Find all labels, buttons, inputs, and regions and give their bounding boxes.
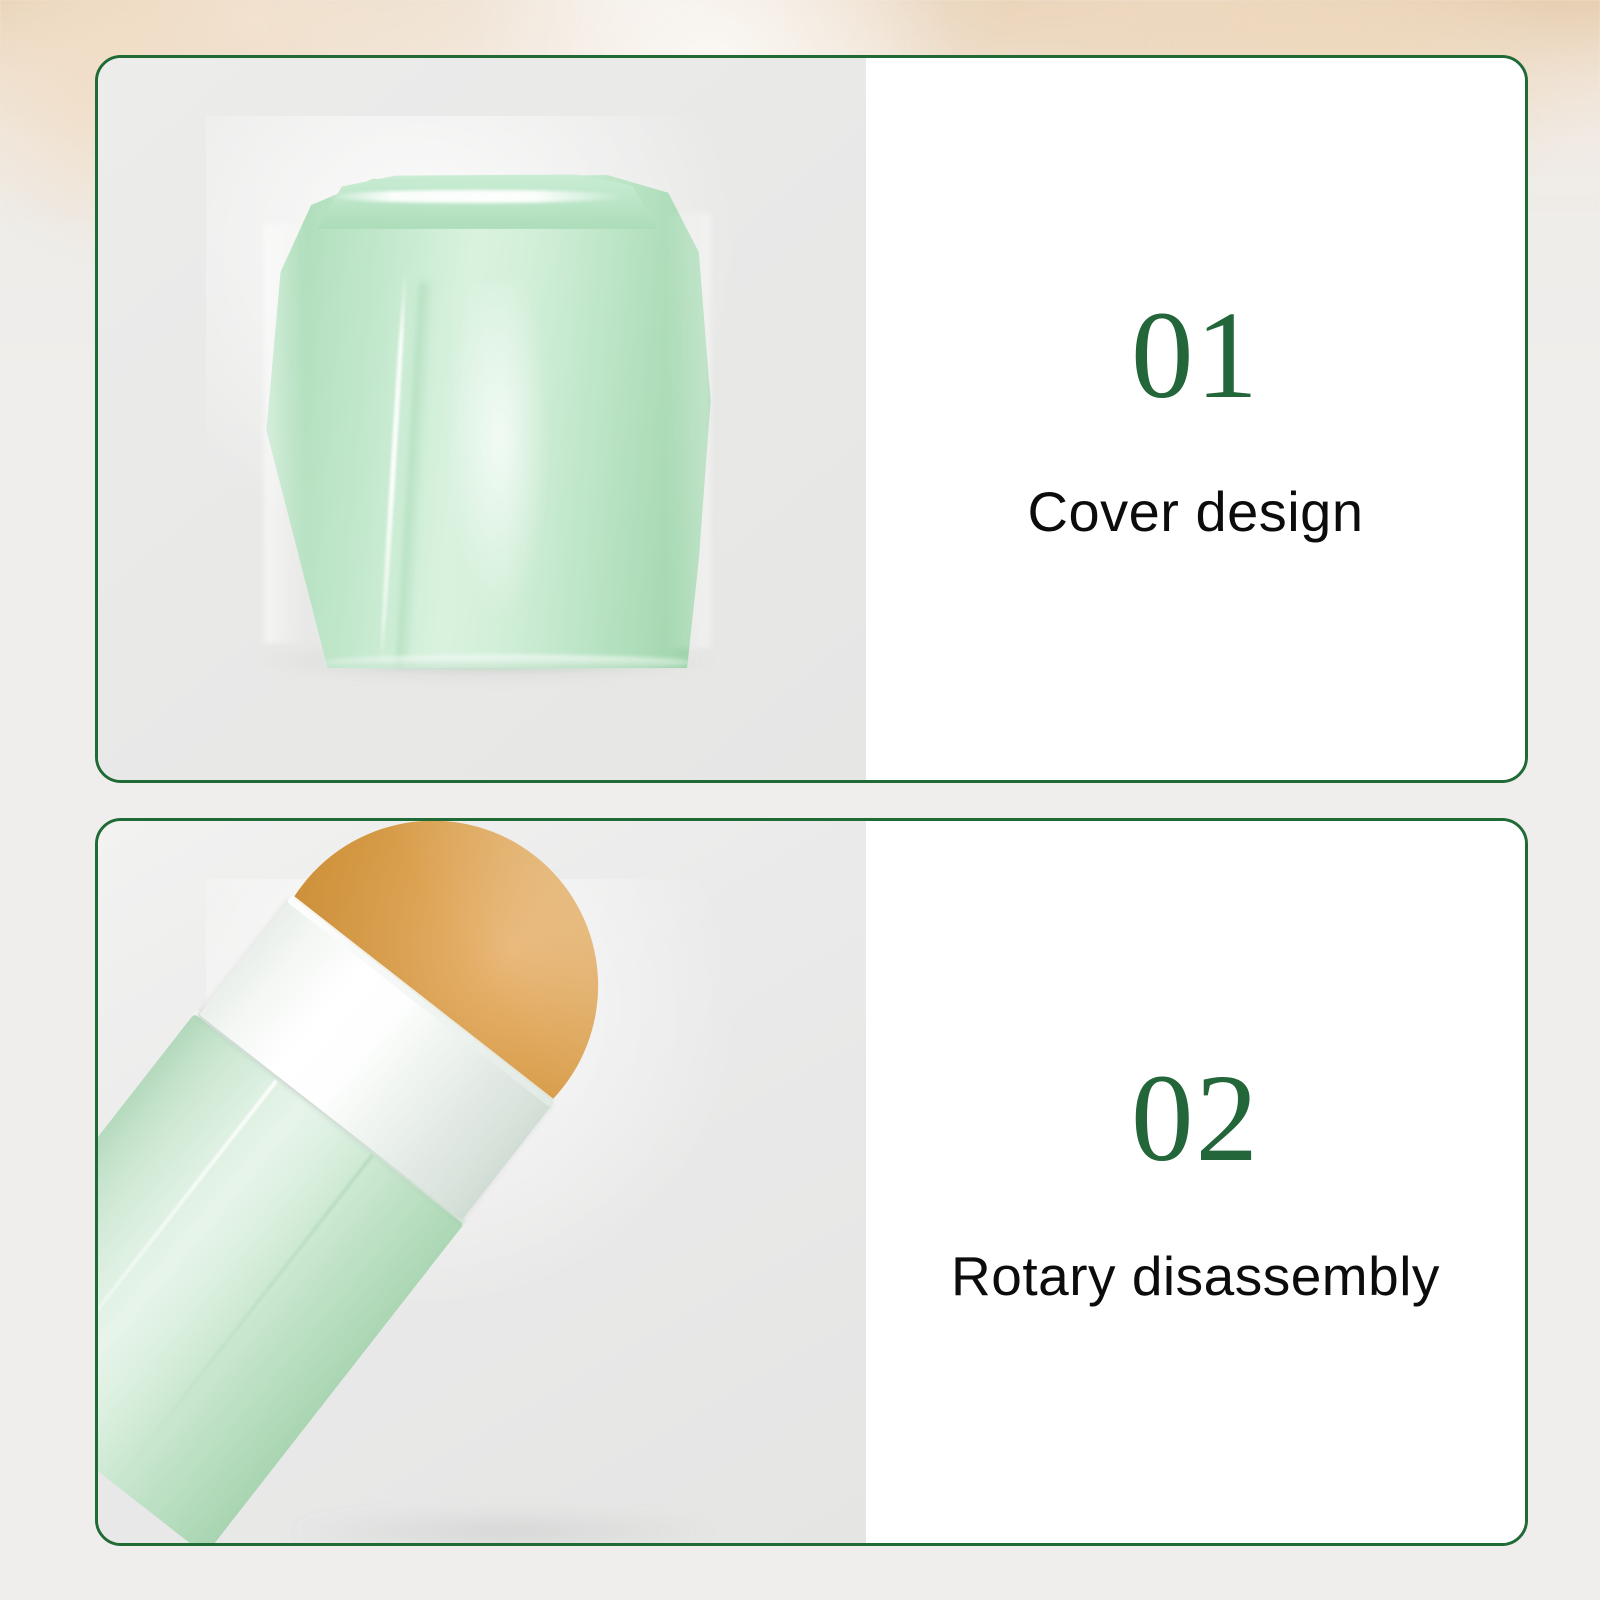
card-01-text-panel: 01 Cover design <box>866 58 1525 780</box>
cap-right-edge-highlight <box>664 213 711 649</box>
step-title-01: Cover design <box>1028 481 1364 544</box>
step-number-01: 01 <box>1131 294 1260 419</box>
product-cap-photo <box>98 58 866 780</box>
rotary-stick-scene <box>98 821 866 1546</box>
step-number-02: 02 <box>1131 1057 1260 1182</box>
feature-card-02[interactable]: 02 Rotary disassembly <box>95 818 1528 1546</box>
step-title-02: Rotary disassembly <box>951 1246 1440 1308</box>
card-inner: 01 Cover design <box>98 58 1525 780</box>
rotary-stick <box>95 818 830 1546</box>
cap-left-edge-highlight <box>264 223 306 644</box>
feature-card-01[interactable]: 01 Cover design <box>95 55 1528 783</box>
product-rotary-photo <box>98 821 866 1543</box>
infographic-page: 01 Cover design <box>0 0 1600 1600</box>
cap-top-specular <box>325 190 626 203</box>
card-inner: 02 Rotary disassembly <box>98 821 1525 1543</box>
mint-green-cap <box>250 173 720 668</box>
cap-center-highlight <box>447 282 550 629</box>
card-02-text-panel: 02 Rotary disassembly <box>866 821 1525 1543</box>
